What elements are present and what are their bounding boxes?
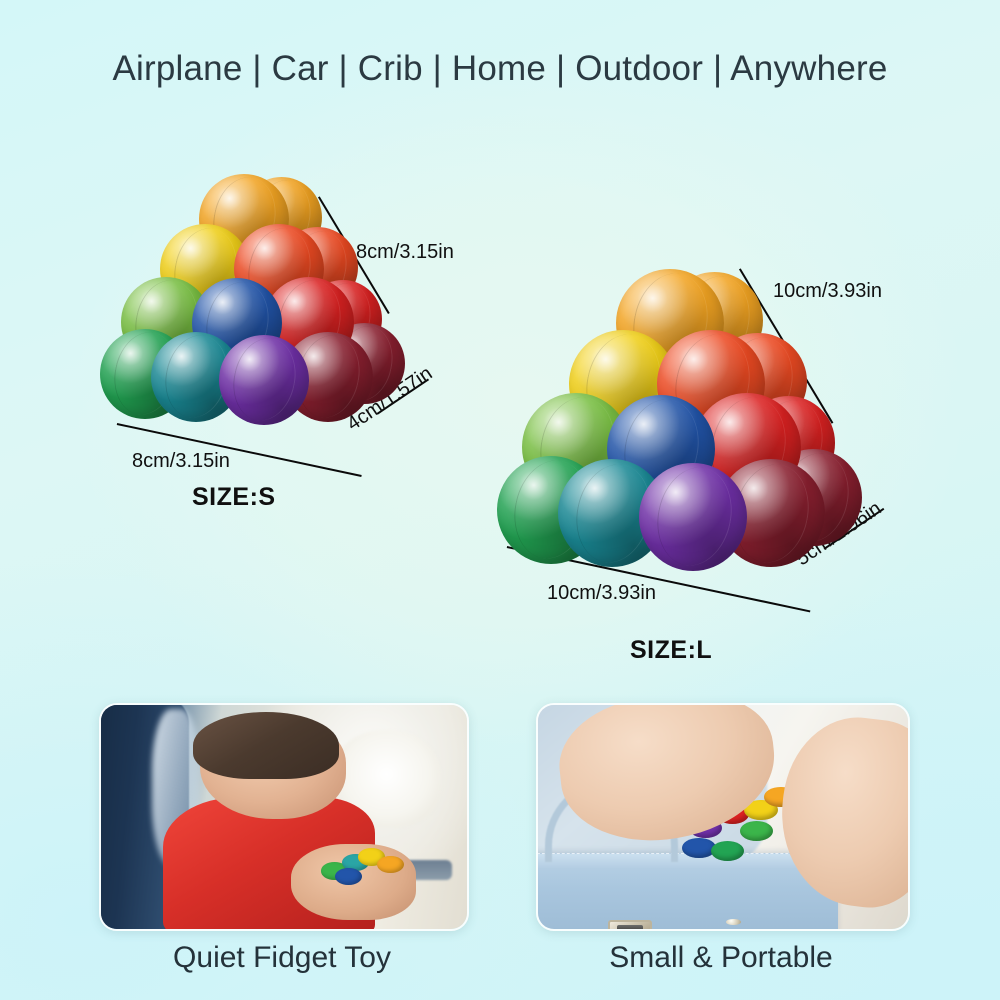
- pyramid-ball: [639, 463, 747, 571]
- dimension-label-width-l: 10cm/3.93in: [547, 582, 656, 605]
- feature-card-small-portable[interactable]: [536, 703, 910, 931]
- handbag-clasp: [608, 920, 652, 929]
- pyramid-ball: [219, 335, 309, 425]
- dimension-label-diagonal-l: 10cm/3.93in: [773, 280, 882, 303]
- photo-small-portable: [538, 705, 908, 929]
- caption-quiet-fidget-toy: Quiet Fidget Toy: [99, 940, 465, 976]
- infographic-page: Airplane | Car | Crib | Home | Outdoor |…: [0, 0, 1000, 1000]
- caption-small-portable: Small & Portable: [536, 940, 906, 976]
- ball-pyramid-small: [100, 165, 400, 455]
- size-label-s: SIZE:S: [192, 483, 276, 512]
- boy-hair: [193, 712, 339, 779]
- dimension-label-width-s: 8cm/3.15in: [132, 450, 230, 473]
- product-size-l: 10cm/3.93in 10cm/3.93in 5cm/1.96in SIZE:…: [497, 258, 917, 678]
- ball-seam: [648, 461, 740, 573]
- ball-seam: [226, 333, 303, 427]
- header-tagline: Airplane | Car | Crib | Home | Outdoor |…: [0, 48, 1000, 90]
- dimension-label-diagonal-s: 8cm/3.15in: [356, 241, 454, 264]
- handbag-stud: [726, 919, 742, 926]
- photo-quiet-fidget-toy: [101, 705, 467, 929]
- ball-pyramid-large: [497, 258, 857, 608]
- mini-toy-in-hands: [321, 848, 402, 882]
- product-size-s: 8cm/3.15in 8cm/3.15in 4cm/1.57in SIZE:S: [100, 165, 460, 535]
- size-label-l: SIZE:L: [630, 636, 712, 665]
- feature-card-quiet-fidget-toy[interactable]: [99, 703, 469, 931]
